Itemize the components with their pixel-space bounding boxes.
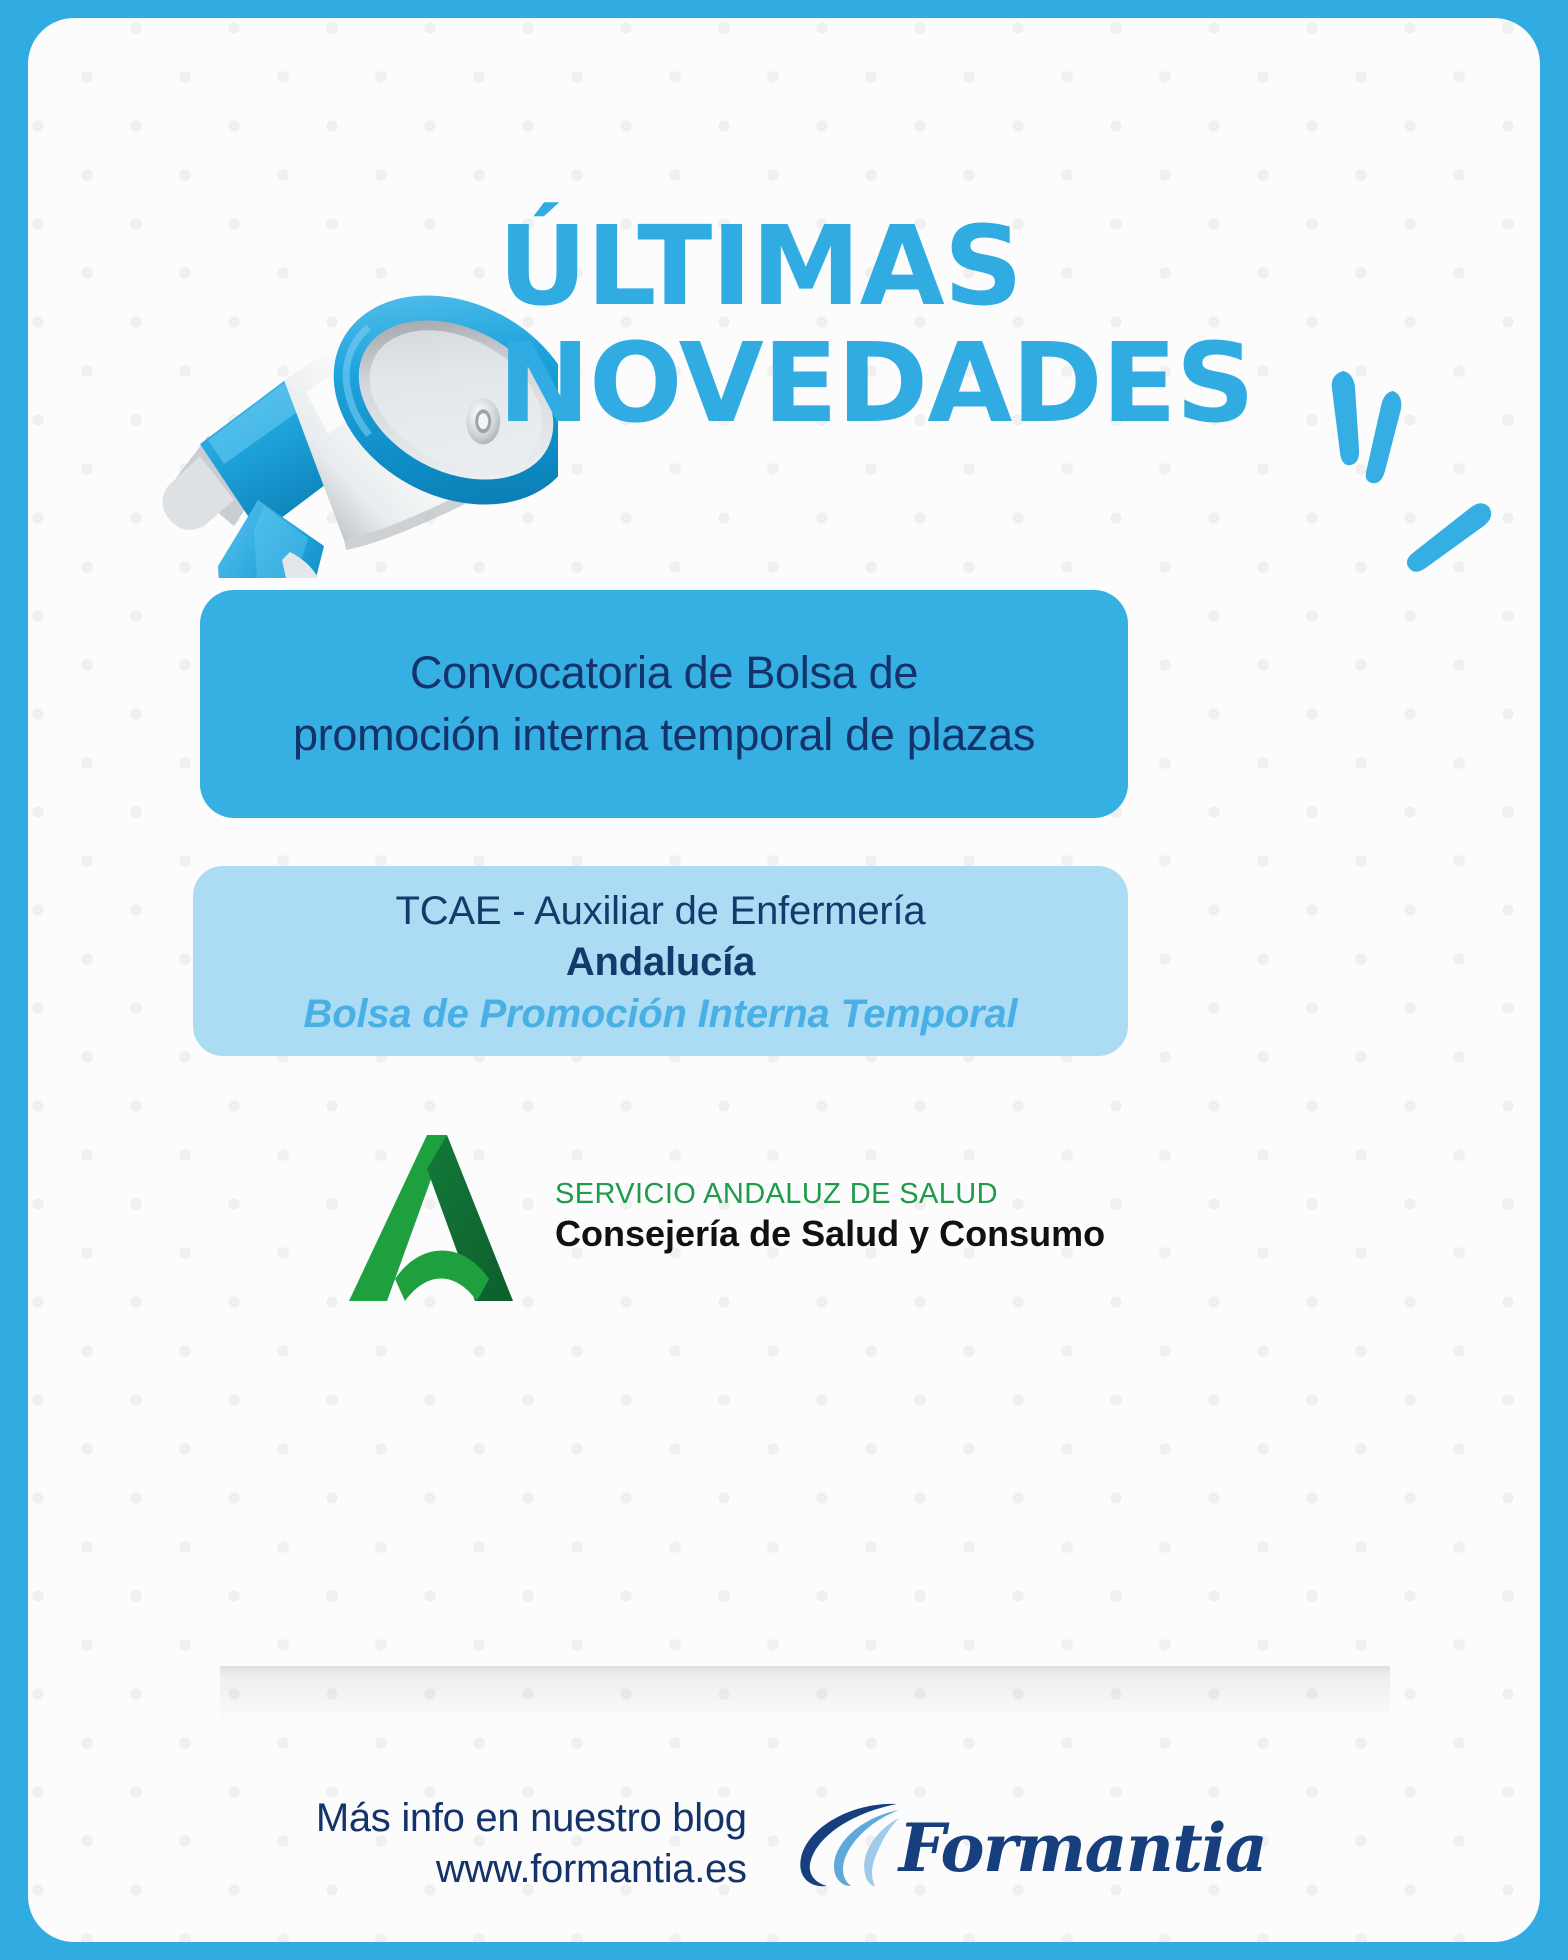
formantia-swoosh-icon (793, 1796, 911, 1892)
headline-line-1: ÚLTIMAS (498, 208, 1258, 325)
footer: Más info en nuestro blog www.formantia.e… (28, 1793, 1540, 1895)
banner-line-2: promoción interna temporal de plazas (293, 704, 1035, 766)
page-title: ÚLTIMAS NOVEDADES (498, 208, 1258, 441)
sas-logo: SERVICIO ANDALUZ DE SALUD Consejería de … (343, 1123, 1243, 1313)
sas-logo-line-1: SERVICIO ANDALUZ DE SALUD (555, 1176, 1105, 1212)
formantia-logo[interactable]: Formantia (793, 1796, 1266, 1892)
footer-url[interactable]: www.formantia.es (316, 1844, 747, 1895)
poster-frame: ÚLTIMAS NOVEDADES Convocatoria de Bolsa … (0, 0, 1568, 1960)
headline-line-2: NOVEDADES (498, 325, 1258, 442)
burst-lines-icon (1313, 363, 1540, 603)
process-subtitle: Bolsa de Promoción Interna Temporal (304, 988, 1018, 1040)
section-divider (220, 1666, 1390, 1726)
job-role-label: TCAE - Auxiliar de Enfermería (396, 886, 926, 937)
region-label: Andalucía (566, 937, 755, 988)
banner-line-1: Convocatoria de Bolsa de (410, 642, 918, 704)
details-box: TCAE - Auxiliar de Enfermería Andalucía … (193, 866, 1128, 1056)
footer-blog-info: Más info en nuestro blog www.formantia.e… (316, 1793, 747, 1895)
poster-card: ÚLTIMAS NOVEDADES Convocatoria de Bolsa … (28, 18, 1540, 1942)
andalucia-a-logo-icon (343, 1129, 521, 1307)
megaphone-icon (138, 148, 558, 578)
formantia-wordmark: Formantia (899, 1815, 1266, 1881)
announcement-banner: Convocatoria de Bolsa de promoción inter… (200, 590, 1128, 818)
footer-blog-label: Más info en nuestro blog (316, 1793, 747, 1844)
sas-logo-line-2: Consejería de Salud y Consumo (555, 1212, 1105, 1256)
